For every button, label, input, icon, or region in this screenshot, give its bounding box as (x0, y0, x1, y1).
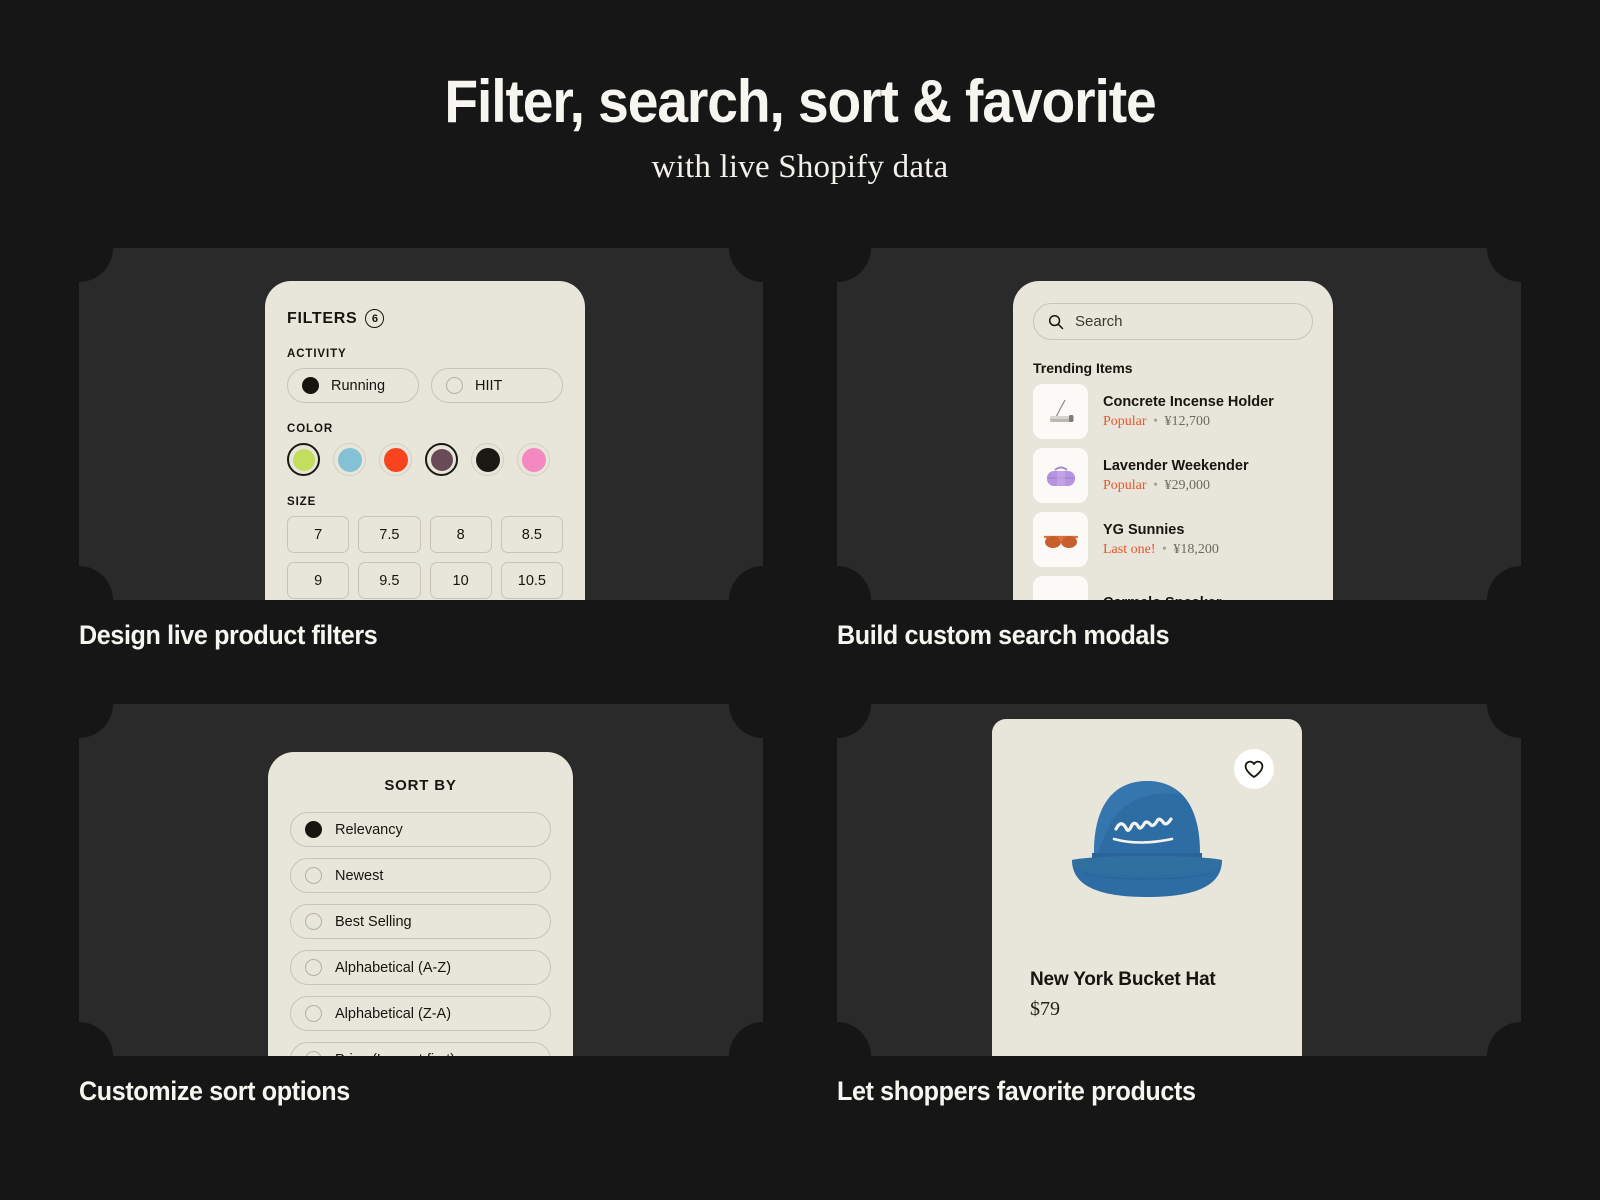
page-title: Filter, search, sort & favorite (64, 70, 1536, 133)
card-caption-filters: Design live product filters (79, 620, 377, 651)
product-thumbnail (1033, 512, 1088, 567)
feature-cell-favorite: New York Bucket Hat $79 Let shoppers fav… (837, 704, 1521, 1056)
phone-mockup-search: Search Trending Items Concrete Incense H… (1013, 281, 1333, 600)
color-group-label: COLOR (287, 423, 563, 435)
product-price: ¥29,000 (1164, 478, 1210, 493)
card-caption-favorite: Let shoppers favorite products (837, 1076, 1196, 1107)
phone-mockup-sort: SORT BY Relevancy Newest Best Selling Al… (268, 752, 573, 1056)
card-search: Search Trending Items Concrete Incense H… (837, 248, 1521, 600)
sort-option-best-selling[interactable]: Best Selling (290, 904, 551, 939)
card-filters: FILTERS 6 ACTIVITY Running HIIT COLOR (79, 248, 763, 600)
feature-cell-filters: FILTERS 6 ACTIVITY Running HIIT COLOR (79, 248, 763, 600)
page-subtitle: with live Shopify data (0, 149, 1600, 186)
color-swatch-black[interactable] (471, 443, 504, 476)
list-item[interactable]: Concrete Incense Holder Popular • ¥12,70… (1033, 384, 1313, 439)
sort-by-title: SORT BY (290, 777, 551, 794)
list-item-text: Carmelo Sneaker (1103, 594, 1221, 600)
product-price: $79 (1030, 998, 1264, 1021)
product-name: YG Sunnies (1103, 521, 1219, 539)
product-price: ¥12,700 (1164, 414, 1210, 429)
list-item-text: YG Sunnies Last one! • ¥18,200 (1103, 521, 1219, 557)
size-option[interactable]: 8.5 (501, 516, 563, 553)
filters-header: FILTERS 6 (287, 309, 563, 328)
size-option[interactable]: 8 (430, 516, 492, 553)
sort-option-relevancy[interactable]: Relevancy (290, 812, 551, 847)
radio-icon (305, 913, 322, 930)
activity-option-running[interactable]: Running (287, 368, 419, 403)
sort-option-label: Alphabetical (Z-A) (335, 1006, 451, 1022)
sort-option-newest[interactable]: Newest (290, 858, 551, 893)
radio-icon (446, 377, 463, 394)
duffel-bag-icon (1039, 454, 1083, 498)
size-option[interactable]: 9.5 (358, 562, 420, 599)
sort-option-label: Relevancy (335, 822, 403, 838)
product-tag: Last one! (1103, 542, 1155, 557)
card-notch-bottom-right (1487, 1022, 1521, 1056)
radio-icon (305, 1005, 322, 1022)
size-option[interactable]: 9 (287, 562, 349, 599)
list-item[interactable]: Carmelo Sneaker (1033, 576, 1313, 600)
card-notch-bottom-right (729, 1022, 763, 1056)
card-caption-sort: Customize sort options (79, 1076, 350, 1107)
sneaker-icon (1039, 582, 1083, 601)
activity-options: Running HIIT (287, 368, 563, 403)
card-favorite: New York Bucket Hat $79 (837, 704, 1521, 1056)
sort-option-label: Best Selling (335, 914, 412, 930)
product-meta: Popular • ¥29,000 (1103, 478, 1249, 494)
color-swatches (287, 443, 563, 476)
meta-separator: • (1162, 542, 1167, 557)
product-meta: Last one! • ¥18,200 (1103, 542, 1219, 558)
color-swatch-orange-red[interactable] (379, 443, 412, 476)
product-tag: Popular (1103, 478, 1147, 493)
feature-cell-search: Search Trending Items Concrete Incense H… (837, 248, 1521, 600)
activity-option-label: HIIT (475, 378, 502, 394)
card-sort: SORT BY Relevancy Newest Best Selling Al… (79, 704, 763, 1056)
meta-separator: • (1153, 478, 1158, 493)
list-item[interactable]: YG Sunnies Last one! • ¥18,200 (1033, 512, 1313, 567)
card-notch-bottom-left (79, 566, 113, 600)
card-notch-bottom-right (729, 566, 763, 600)
product-thumbnail (1033, 448, 1088, 503)
phone-mockup-filters: FILTERS 6 ACTIVITY Running HIIT COLOR (265, 281, 585, 600)
radio-icon (305, 821, 322, 838)
color-swatch-light-blue[interactable] (333, 443, 366, 476)
list-item-text: Concrete Incense Holder Popular • ¥12,70… (1103, 393, 1274, 429)
size-option[interactable]: 7.5 (358, 516, 420, 553)
page-header: Filter, search, sort & favorite with liv… (0, 0, 1600, 186)
product-name: New York Bucket Hat (1030, 969, 1264, 991)
radio-icon (305, 1051, 322, 1056)
trending-items-label: Trending Items (1033, 360, 1313, 376)
card-caption-search: Build custom search modals (837, 620, 1169, 651)
product-thumbnail (1033, 384, 1088, 439)
size-group-label: SIZE (287, 496, 563, 508)
size-option[interactable]: 7 (287, 516, 349, 553)
size-options: 7 7.5 8 8.5 9 9.5 10 10.5 11 11.5 12 12.… (287, 516, 563, 600)
card-notch-bottom-left (79, 1022, 113, 1056)
sort-option-label: Newest (335, 868, 383, 884)
radio-icon (302, 377, 319, 394)
card-notch-bottom-left (837, 566, 871, 600)
sort-option-alphabetical-az[interactable]: Alphabetical (A-Z) (290, 950, 551, 985)
list-item[interactable]: Lavender Weekender Popular • ¥29,000 (1033, 448, 1313, 503)
search-input[interactable]: Search (1033, 303, 1313, 340)
bucket-hat-image (1032, 757, 1262, 932)
color-swatch-lime[interactable] (287, 443, 320, 476)
sort-option-label: Alphabetical (A-Z) (335, 960, 451, 976)
sunglasses-icon (1039, 518, 1083, 562)
feature-cell-sort: SORT BY Relevancy Newest Best Selling Al… (79, 704, 763, 1056)
product-info: New York Bucket Hat $79 (992, 969, 1302, 1021)
activity-option-hiit[interactable]: HIIT (431, 368, 563, 403)
product-thumbnail (1033, 576, 1088, 600)
card-notch-bottom-right (1487, 566, 1521, 600)
product-name: Lavender Weekender (1103, 457, 1249, 475)
radio-icon (305, 959, 322, 976)
feature-card-grid: FILTERS 6 ACTIVITY Running HIIT COLOR (79, 248, 1521, 1110)
product-tag: Popular (1103, 414, 1147, 429)
size-option[interactable]: 10.5 (501, 562, 563, 599)
product-name: Carmelo Sneaker (1103, 594, 1221, 600)
color-swatch-plum[interactable] (425, 443, 458, 476)
sort-option-label: Price (Lowest first) (335, 1052, 455, 1057)
incense-holder-icon (1039, 390, 1083, 434)
radio-icon (305, 867, 322, 884)
size-option[interactable]: 10 (430, 562, 492, 599)
sort-option-price-lowest[interactable]: Price (Lowest first) (290, 1042, 551, 1056)
activity-group-label: ACTIVITY (287, 348, 563, 360)
search-placeholder: Search (1075, 313, 1123, 330)
list-item-text: Lavender Weekender Popular • ¥29,000 (1103, 457, 1249, 493)
filters-count-badge: 6 (365, 309, 384, 328)
favorite-button[interactable] (1234, 749, 1274, 789)
product-name: Concrete Incense Holder (1103, 393, 1274, 411)
sort-option-alphabetical-za[interactable]: Alphabetical (Z-A) (290, 996, 551, 1031)
product-card: New York Bucket Hat $79 (992, 719, 1302, 1056)
card-notch-bottom-left (837, 1022, 871, 1056)
heart-outline-icon (1244, 760, 1264, 779)
meta-separator: • (1153, 414, 1158, 429)
product-price: ¥18,200 (1173, 542, 1219, 557)
product-meta: Popular • ¥12,700 (1103, 414, 1274, 430)
color-swatch-pink[interactable] (517, 443, 550, 476)
activity-option-label: Running (331, 378, 385, 394)
search-icon (1048, 314, 1064, 330)
filters-heading-label: FILTERS (287, 310, 357, 328)
